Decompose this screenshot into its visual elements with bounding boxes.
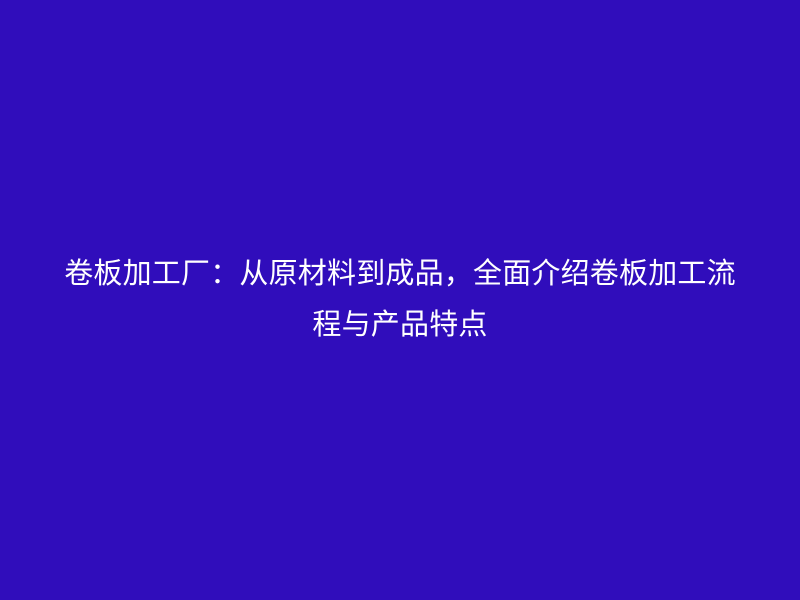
page-title: 卷板加工厂：从原材料到成品，全面介绍卷板加工流程与产品特点 [50,249,750,351]
title-card: 卷板加工厂：从原材料到成品，全面介绍卷板加工流程与产品特点 [0,0,800,600]
title-block: 卷板加工厂：从原材料到成品，全面介绍卷板加工流程与产品特点 [50,249,750,351]
